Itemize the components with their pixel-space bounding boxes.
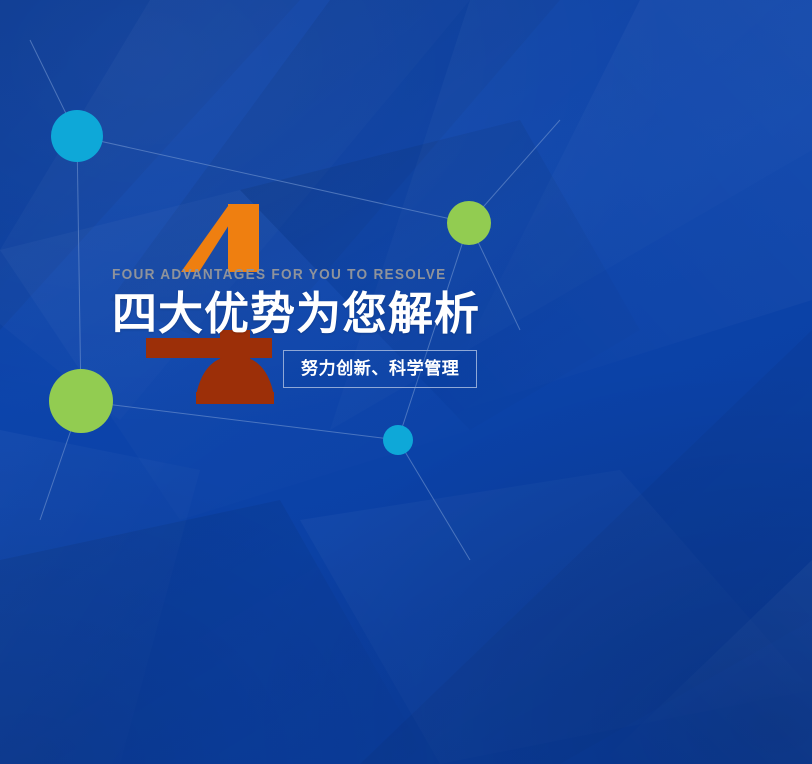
banner-copy: FOUR ADVANTAGES FOR YOU TO RESOLVE 四大优势为… bbox=[112, 268, 672, 337]
banner-eyebrow: FOUR ADVANTAGES FOR YOU TO RESOLVE bbox=[112, 268, 638, 283]
tagline-badge[interactable]: 努力创新、科学管理 bbox=[283, 350, 477, 388]
node-cyan-bottom bbox=[383, 425, 413, 455]
node-green-bottom-left bbox=[49, 369, 113, 433]
promo-banner: FOUR ADVANTAGES FOR YOU TO RESOLVE 四大优势为… bbox=[0, 0, 812, 764]
tagline-row: 努力创新、科学管理 bbox=[283, 350, 477, 388]
node-cyan-top-left bbox=[51, 110, 103, 162]
banner-headline: 四大优势为您解析 bbox=[112, 290, 672, 337]
node-green-right bbox=[447, 201, 491, 245]
